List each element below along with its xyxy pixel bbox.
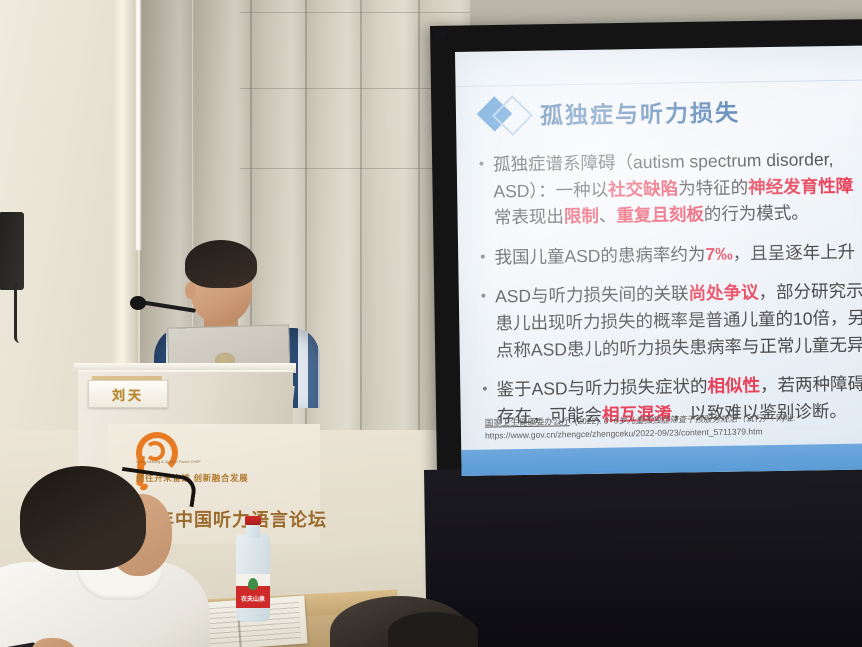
citation-source: 国家卫生健康委办公厅	[485, 417, 570, 428]
highlighted-term: 7‰	[705, 243, 733, 263]
presenter-hair	[185, 240, 257, 288]
text-run: 点称ASD患儿的听力损失患病率与正常儿童无异	[496, 334, 862, 360]
bottle-brand: 农夫山泉	[238, 594, 268, 603]
bullet-dot-icon: •	[481, 284, 488, 364]
speaker-nameplate: 刘天	[88, 380, 168, 408]
highlighted-term: 神经发育性障	[748, 175, 853, 197]
speaker-cable	[14, 283, 20, 343]
audience-member-foreground	[0, 466, 240, 647]
text-run: ASD与听力损失间的关联	[495, 284, 689, 307]
text-run: 常表现出	[494, 206, 564, 227]
dark-foreground-area	[430, 560, 862, 647]
highlighted-term: 限制	[564, 206, 599, 227]
slide-bullet-list: •孤独症谱系障碍（autism spectrum disorder,ASD）：一…	[479, 144, 862, 443]
slide-bullet: •ASD与听力损失间的关联尚处争议，部分研究示患儿出现听力损失的概率是普通儿童的…	[481, 277, 862, 364]
text-run: ，部分研究示	[758, 281, 862, 303]
slide-bullet: •孤独症谱系障碍（autism spectrum disorder,ASD）：一…	[479, 144, 862, 231]
citation-tail: . 网址:	[771, 413, 795, 423]
highlighted-term: 重复且刻板	[616, 204, 704, 225]
citation-title: 0~6岁儿童孤独症筛查干预服务规范（试行）	[604, 413, 772, 426]
diamond-icon	[482, 97, 529, 132]
curtain-crease	[240, 12, 470, 13]
microphone-icon	[130, 296, 146, 310]
bullet-text: 孤独症谱系障碍（autism spectrum disorder,ASD）：一种…	[493, 144, 862, 231]
presenter-ear	[185, 282, 196, 299]
wall-speaker-box	[0, 212, 24, 290]
audience-head-far-right	[388, 612, 478, 647]
bottle-cap	[245, 516, 261, 525]
bullet-text: 我国儿童ASD的患病率约为7‰，且呈逐年上升	[494, 237, 862, 271]
bullet-text: ASD与听力损失间的关联尚处争议，部分研究示患儿出现听力损失的概率是普通儿童的1…	[495, 277, 862, 364]
text-run: 我国儿童ASD的患病率约为	[494, 244, 705, 267]
text-run: 为特征的	[678, 177, 748, 198]
bullet-line: 我国儿童ASD的患病率约为7‰，且呈逐年上升	[494, 237, 862, 271]
text-run: 孤独症谱系障碍（autism spectrum disorder,	[493, 149, 834, 174]
water-bottle	[236, 516, 270, 622]
speaker-name: 刘天	[112, 385, 144, 404]
text-run: 、	[599, 206, 617, 226]
slide-title: 孤独症与听力损失	[540, 94, 741, 131]
bullet-dot-icon: •	[480, 244, 486, 271]
highlighted-term: 相似性	[707, 375, 760, 396]
presentation-slide: 孤独症与听力损失 •孤独症谱系障碍（autism spectrum disord…	[455, 45, 862, 476]
bottle-leaf-icon	[248, 578, 258, 590]
text-run: 鉴于ASD与听力损失症状的	[496, 376, 707, 399]
text-run: ASD）：一种以	[493, 179, 608, 201]
text-run: ，若两种障碍	[760, 374, 862, 396]
highlighted-term: 社交缺陷	[608, 178, 678, 199]
slide-top-divider	[456, 79, 862, 87]
slide-title-row: 孤独症与听力损失	[482, 94, 741, 132]
window-light-strip	[136, 0, 141, 250]
banner-subtitle-en: China Hearing & Speech Forum CHSF	[136, 460, 256, 465]
citation-year: . (2022).	[570, 416, 604, 427]
text-run: 患儿出现听力损失的概率是普通儿童的10倍，另	[495, 308, 862, 334]
text-run: ，且呈逐年上升	[733, 242, 856, 264]
slide-bullet: •我国儿童ASD的患病率约为7‰，且呈逐年上升	[480, 237, 862, 271]
text-run: 的行为模式。	[704, 203, 809, 225]
scene-photo: 孤独症与听力损失 •孤独症谱系障碍（autism spectrum disord…	[0, 0, 862, 647]
bullet-dot-icon: •	[479, 152, 486, 232]
highlighted-term: 尚处争议	[688, 283, 758, 304]
